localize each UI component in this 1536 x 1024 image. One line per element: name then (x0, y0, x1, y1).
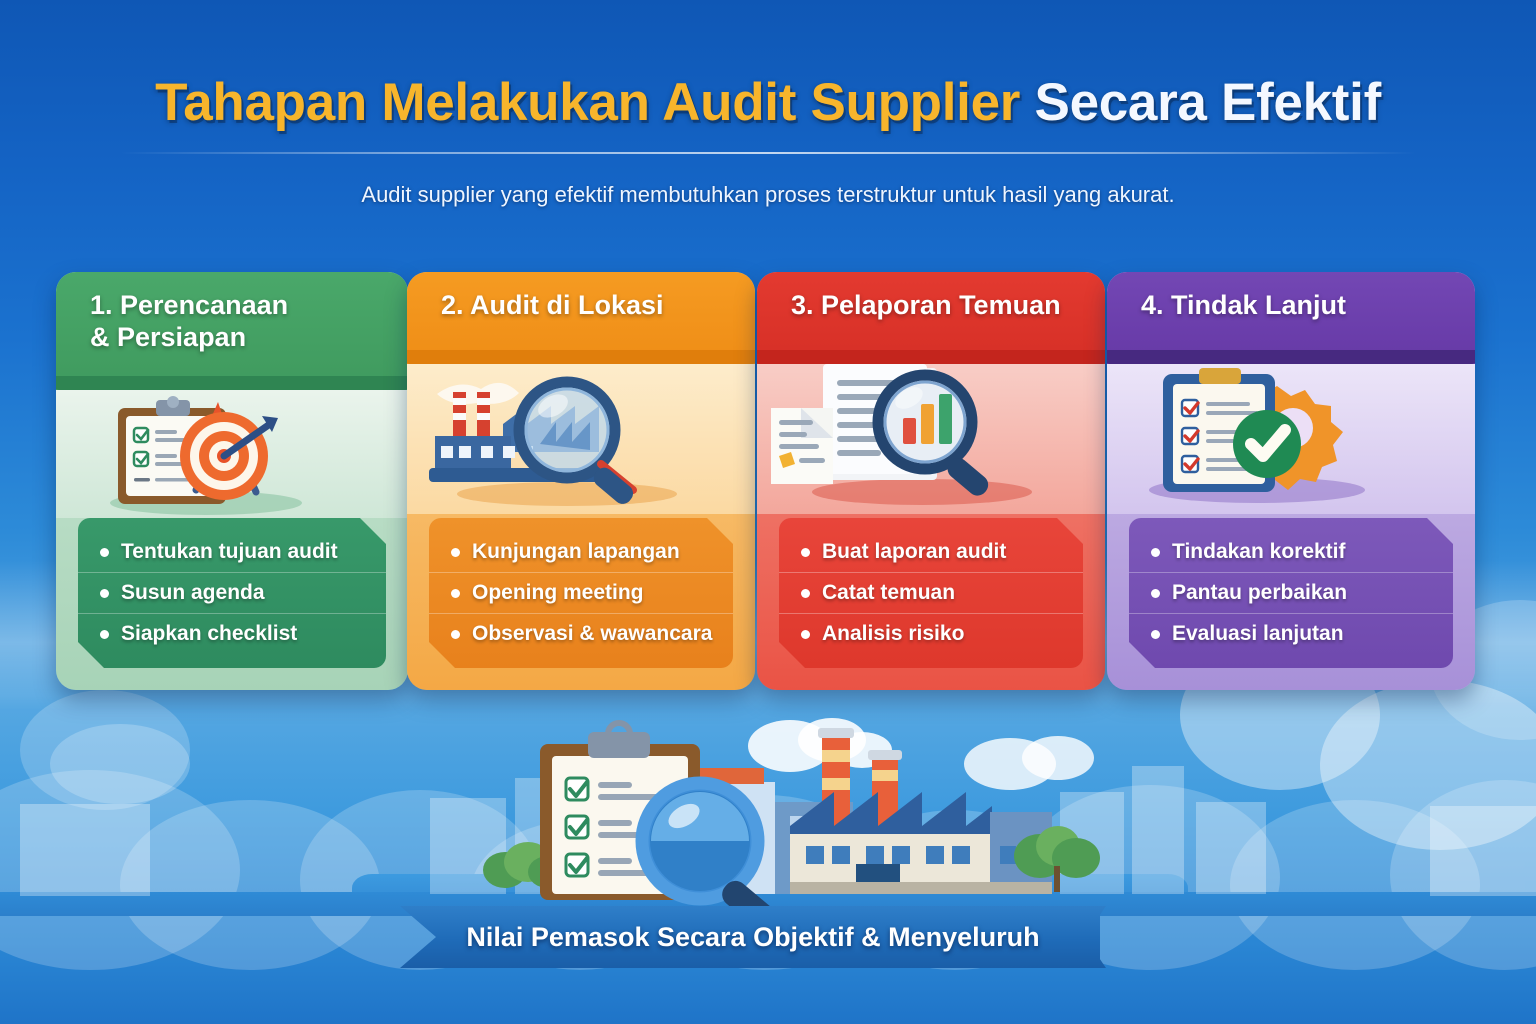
documents-chart-magnifier-icon (757, 364, 1105, 514)
title-gold-part: Tahapan Melakukan Audit Supplier (155, 73, 1020, 132)
clipboard-target-icon (56, 390, 408, 518)
list-item-label: Siapkan checklist (121, 622, 297, 646)
step-card-1-title-line2: & Persiapan (90, 322, 288, 354)
list-item[interactable]: Evaluasi lanjutan (1129, 613, 1453, 654)
step-card-4[interactable]: 4. Tindak Lanjut (1107, 272, 1475, 690)
bullet-icon (801, 548, 810, 557)
list-item-label: Analisis risiko (822, 622, 964, 646)
list-item-label: Tentukan tujuan audit (121, 540, 338, 564)
step-card-4-title-line1: 4. Tindak Lanjut (1141, 290, 1346, 322)
list-item-label: Buat laporan audit (822, 540, 1006, 564)
list-item-label: Susun agenda (121, 581, 265, 605)
list-item[interactable]: Susun agenda (78, 572, 386, 613)
list-item[interactable]: Catat temuan (779, 572, 1083, 613)
list-item[interactable]: Kunjungan lapangan (429, 532, 733, 572)
bullet-icon (100, 630, 109, 639)
bullet-icon (1151, 589, 1160, 598)
clipboard-magnifier-factory-scene (0, 706, 1536, 916)
factory-magnifier-icon (407, 364, 755, 514)
list-item-label: Evaluasi lanjutan (1172, 622, 1344, 646)
list-item[interactable]: Tindakan korektif (1129, 532, 1453, 572)
list-item-label: Tindakan korektif (1172, 540, 1346, 564)
bullet-icon (451, 589, 460, 598)
bullet-icon (801, 589, 810, 598)
list-item[interactable]: Observasi & wawancara (429, 613, 733, 654)
bullet-icon (100, 548, 109, 557)
page-title: Tahapan Melakukan Audit Supplier Secara … (0, 72, 1536, 133)
list-item-label: Pantau perbaikan (1172, 581, 1347, 605)
list-item[interactable]: Opening meeting (429, 572, 733, 613)
list-item-label: Kunjungan lapangan (472, 540, 680, 564)
step-card-3-list: Buat laporan audit Catat temuan Analisis… (779, 518, 1083, 668)
bottom-ribbon-text: Nilai Pemasok Secara Objektif & Menyelur… (400, 906, 1106, 968)
list-item-label: Observasi & wawancara (472, 622, 712, 646)
bullet-icon (451, 548, 460, 557)
bullet-icon (1151, 630, 1160, 639)
step-card-1-title-line1: 1. Perencanaan (90, 290, 288, 322)
step-card-2-title-line1: 2. Audit di Lokasi (441, 290, 664, 322)
step-card-3[interactable]: 3. Pelaporan Temuan (757, 272, 1105, 690)
step-card-2[interactable]: 2. Audit di Lokasi (407, 272, 755, 690)
list-item-label: Opening meeting (472, 581, 644, 605)
bullet-icon (451, 630, 460, 639)
clipboard-gear-check-icon (1107, 364, 1475, 514)
title-divider (120, 152, 1416, 154)
bullet-icon (1151, 548, 1160, 557)
step-card-2-list: Kunjungan lapangan Opening meeting Obser… (429, 518, 733, 668)
step-card-4-list: Tindakan korektif Pantau perbaikan Evalu… (1129, 518, 1453, 668)
title-white-part: Secara Efektif (1035, 73, 1381, 132)
step-card-3-title-line1: 3. Pelaporan Temuan (791, 290, 1061, 322)
step-card-1-header: 1. Perencanaan & Persiapan (56, 272, 408, 390)
list-item[interactable]: Buat laporan audit (779, 532, 1083, 572)
list-item[interactable]: Siapkan checklist (78, 613, 386, 654)
list-item[interactable]: Pantau perbaikan (1129, 572, 1453, 613)
bullet-icon (801, 630, 810, 639)
step-card-1-list: Tentukan tujuan audit Susun agenda Siapk… (78, 518, 386, 668)
step-card-1[interactable]: 1. Perencanaan & Persiapan (56, 272, 408, 690)
page-subtitle: Audit supplier yang efektif membutuhkan … (0, 182, 1536, 208)
list-item-label: Catat temuan (822, 581, 955, 605)
list-item[interactable]: Tentukan tujuan audit (78, 532, 386, 572)
bullet-icon (100, 589, 109, 598)
list-item[interactable]: Analisis risiko (779, 613, 1083, 654)
